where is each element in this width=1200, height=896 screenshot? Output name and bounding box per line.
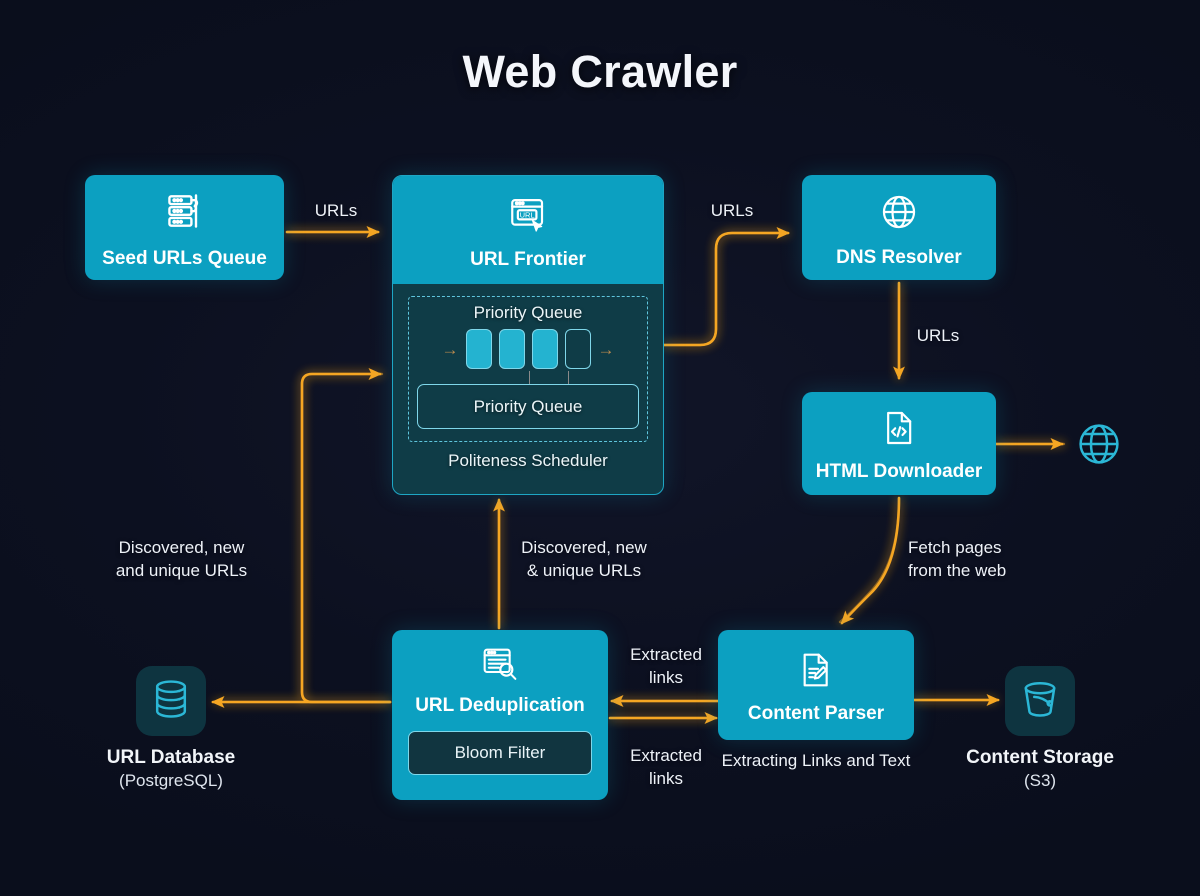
page-title: Web Crawler (0, 46, 1200, 98)
edge-label-dns-to-downloader: URLs (888, 325, 988, 348)
queue-slot (499, 329, 525, 369)
edge-dedup-to-frontier-left (302, 374, 390, 702)
node-url-deduplication[interactable]: URL Deduplication Bloom Filter (392, 630, 608, 800)
priority-queue-slots: → → (417, 329, 639, 369)
politeness-scheduler-label: Politeness Scheduler (448, 451, 608, 471)
node-dns-resolver[interactable]: DNS Resolver (802, 175, 996, 280)
globe-icon (878, 191, 920, 238)
node-content-parser[interactable]: Content Parser (718, 630, 914, 740)
queue-out-arrow-icon: → (598, 341, 615, 358)
database-cylinder-icon (148, 676, 194, 727)
caption-secondary: (S3) (920, 770, 1160, 791)
url-database-tile[interactable] (136, 666, 206, 736)
queue-slot (466, 329, 492, 369)
document-edit-icon (796, 650, 836, 695)
url-frontier-header: URL URL Frontier (393, 176, 663, 284)
node-url-frontier[interactable]: URL URL Frontier Priority Queue → → (392, 175, 664, 495)
edge-frontier-to-dns (664, 233, 788, 345)
edge-label-dedup-to-parser: Extracted links (612, 745, 720, 791)
svg-text:URL: URL (520, 210, 535, 219)
content-storage-tile[interactable] (1005, 666, 1075, 736)
diagram-canvas: Web Crawler Seed URLs Queue (0, 0, 1200, 896)
bloom-filter-box[interactable]: Bloom Filter (408, 731, 592, 775)
caption-secondary: (PostgreSQL) (50, 770, 292, 791)
node-html-downloader[interactable]: HTML Downloader (802, 392, 996, 495)
edge-downloader-to-parser (842, 498, 899, 623)
caption-primary: Content Storage (920, 746, 1160, 770)
url-frontier-body: Priority Queue → → Priority Queue Polite… (393, 284, 663, 494)
node-label: URL Deduplication (415, 695, 585, 717)
content-parser-caption: Extracting Links and Text (716, 750, 916, 772)
priority-queue-title: Priority Queue (474, 303, 583, 323)
document-search-icon (480, 644, 520, 689)
content-storage-caption: Content Storage (S3) (920, 746, 1160, 791)
edge-label-parser-to-dedup: Extracted links (612, 644, 720, 690)
node-label: URL Frontier (470, 249, 586, 271)
server-stack-icon (163, 189, 207, 238)
node-label: Seed URLs Queue (102, 248, 267, 270)
caption-primary: URL Database (50, 746, 292, 770)
node-seed-urls-queue[interactable]: Seed URLs Queue (85, 175, 284, 280)
globe-icon (1075, 420, 1123, 468)
queue-slot-empty (565, 329, 591, 369)
edge-label-frontier-to-dns: URLs (672, 200, 792, 223)
storage-bucket-icon (1017, 676, 1063, 727)
queue-in-arrow-icon: → (442, 341, 459, 358)
url-database-caption: URL Database (PostgreSQL) (50, 746, 292, 791)
edge-label-fetch-pages: Fetch pages from the web (908, 537, 1058, 583)
queue-slot (532, 329, 558, 369)
priority-queue-box: Priority Queue (417, 384, 639, 429)
queue-connector-lines (417, 371, 639, 384)
edge-label-seed-to-frontier: URLs (285, 200, 387, 223)
priority-queue-group: Priority Queue → → Priority Queue (408, 296, 648, 442)
edge-label-dedup-to-database: Discovered, new and unique URLs (74, 537, 289, 583)
node-label: DNS Resolver (836, 247, 962, 269)
url-browser-window-icon: URL (507, 194, 549, 241)
code-file-icon (879, 408, 919, 453)
edge-label-dedup-to-frontier: Discovered, new & unique URLs (500, 537, 668, 583)
node-label: Content Parser (748, 703, 884, 725)
node-label: HTML Downloader (816, 461, 982, 483)
